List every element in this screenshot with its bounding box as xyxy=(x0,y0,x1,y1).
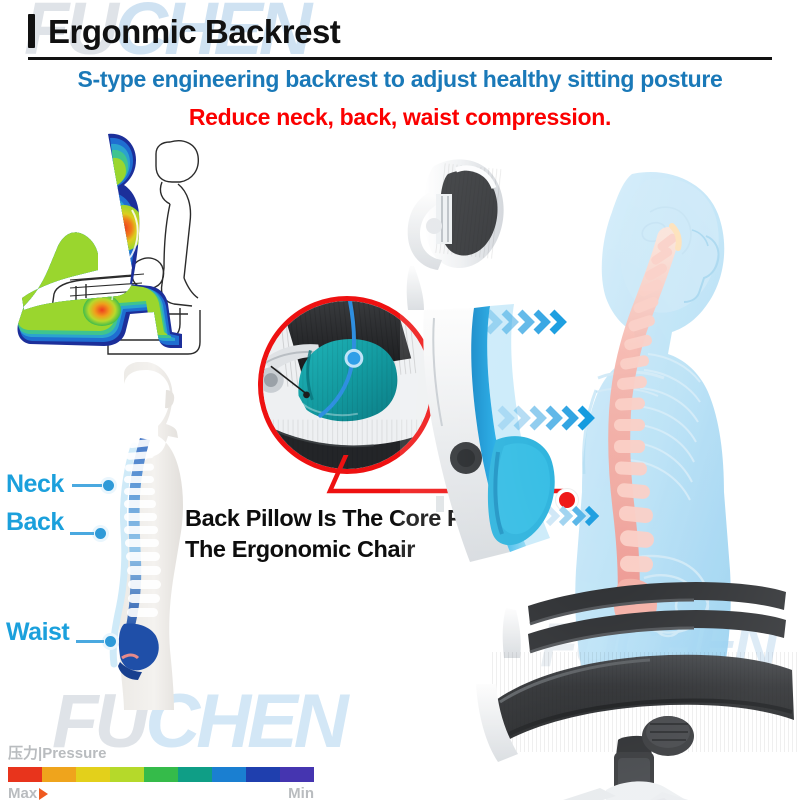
pressure-legend: 压力|Pressure Max Min xyxy=(8,742,314,800)
legend-swatch xyxy=(178,767,212,782)
legend-swatch xyxy=(76,767,110,782)
subtitle-secondary: Reduce neck, back, waist compression. xyxy=(0,104,800,131)
label-waist: Waist xyxy=(6,618,69,647)
legend-max: Max xyxy=(8,785,48,800)
legend-swatch xyxy=(246,767,280,782)
page-title-row: Ergonmic Backrest xyxy=(28,14,340,48)
spine-dot-neck xyxy=(100,477,117,494)
legend-max-marker-icon xyxy=(39,788,48,800)
spine-dot-waist xyxy=(102,633,119,650)
title-accent-bar xyxy=(28,14,35,48)
legend-swatch xyxy=(8,767,42,782)
subtitle-primary: S-type engineering backrest to adjust he… xyxy=(0,66,800,93)
legend-title: 压力|Pressure xyxy=(8,742,314,763)
leader-line-neck xyxy=(72,484,102,487)
legend-max-label: Max xyxy=(8,785,37,800)
legend-swatch xyxy=(280,767,314,782)
legend-swatch xyxy=(110,767,144,782)
hotspot-hip xyxy=(83,294,121,326)
chair-base xyxy=(440,781,800,800)
legend-footer: Max Min xyxy=(8,785,314,800)
page-title: Ergonmic Backrest xyxy=(48,15,340,48)
legend-swatch xyxy=(212,767,246,782)
legend-gradient-bar xyxy=(8,767,314,782)
headrest xyxy=(407,159,504,310)
leader-line-waist xyxy=(76,640,104,643)
hero-illustration xyxy=(400,140,800,800)
legend-swatch xyxy=(144,767,178,782)
legend-swatch xyxy=(42,767,76,782)
spine-dot-back xyxy=(92,525,109,542)
title-divider xyxy=(28,57,772,60)
pillow-contact-dot xyxy=(346,350,362,366)
leader-line-back xyxy=(70,532,94,535)
infographic-canvas: FUCHEN FUCHEN FUCHEN Ergonmic Backrest S… xyxy=(0,0,800,800)
label-back: Back xyxy=(6,508,64,537)
thermal-body xyxy=(12,128,230,360)
pressure-map-figure xyxy=(12,128,230,360)
legend-min-label: Min xyxy=(288,785,314,800)
label-neck: Neck xyxy=(6,470,64,499)
